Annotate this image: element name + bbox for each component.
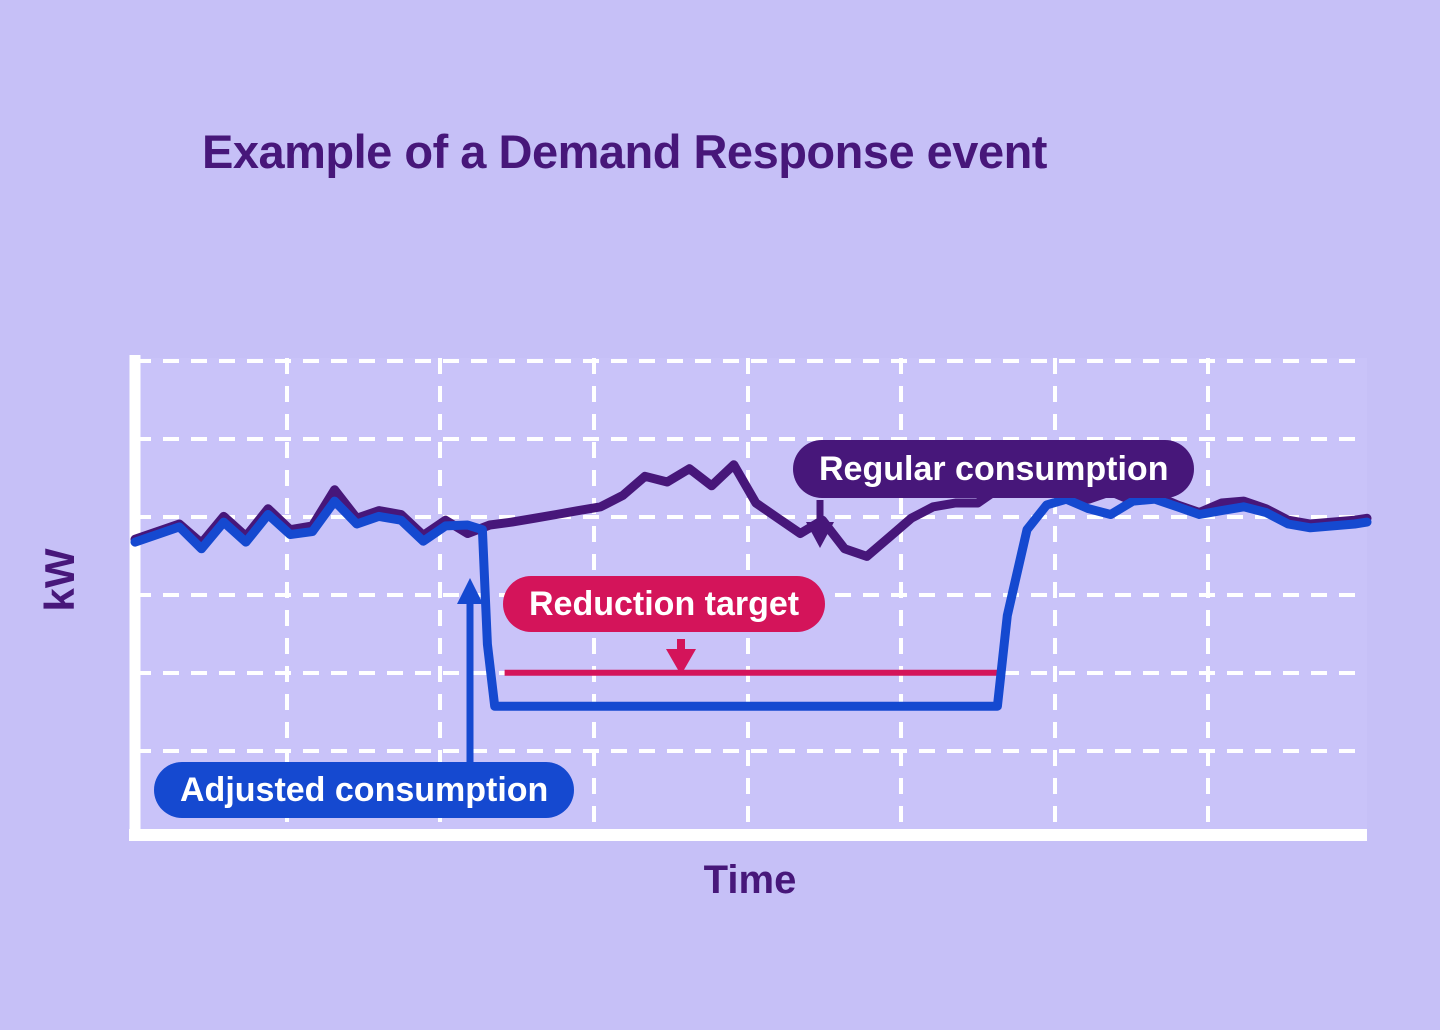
regular-consumption-annotation[interactable]: Regular consumption: [793, 440, 1194, 498]
reduction-target-annotation[interactable]: Reduction target: [503, 576, 825, 632]
chart-canvas: Example of a Demand Response event kW Ti…: [0, 0, 1440, 1030]
plot-area: [0, 0, 1440, 1030]
adjusted-consumption-annotation[interactable]: Adjusted consumption: [154, 762, 574, 818]
